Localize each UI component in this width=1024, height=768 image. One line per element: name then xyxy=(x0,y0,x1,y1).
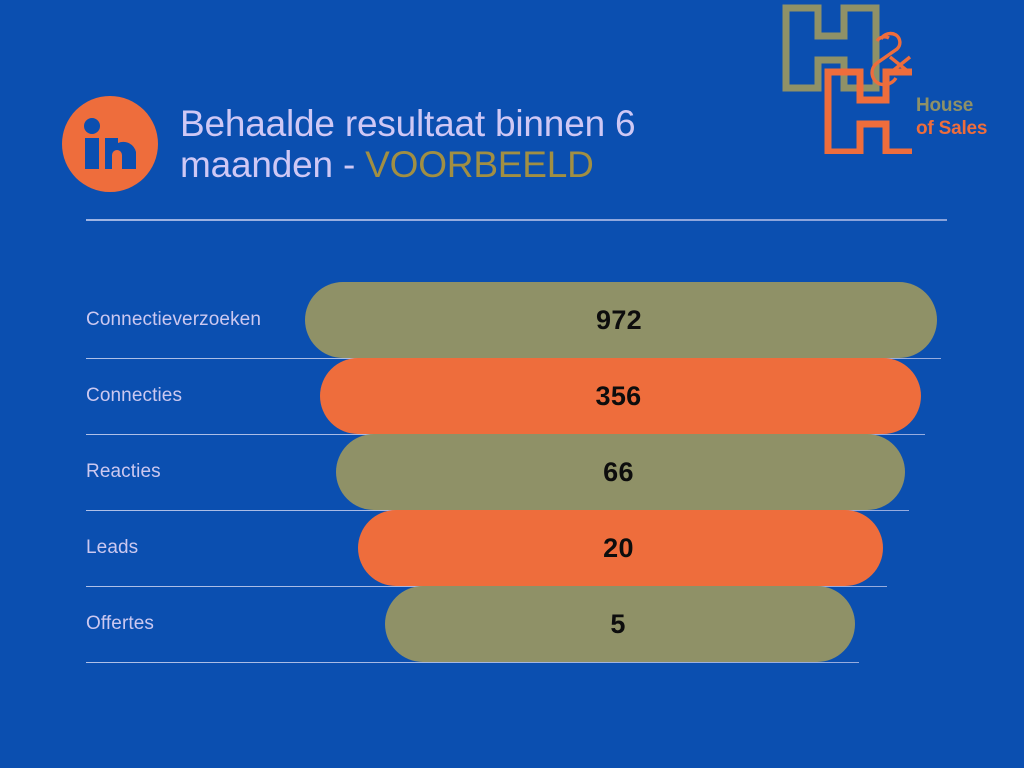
chart-row-label: Connecties xyxy=(86,385,182,407)
chart-row: Connectieverzoeken972 xyxy=(0,282,1024,358)
chart-bar: 66 xyxy=(336,434,905,510)
chart-row-label: Connectieverzoeken xyxy=(86,309,261,331)
chart-bar: 5 xyxy=(385,586,855,662)
chart-row-label: Reacties xyxy=(86,461,161,483)
chart-bar: 20 xyxy=(358,510,883,586)
slide-canvas: Behaalde resultaat binnen 6 maanden - VO… xyxy=(0,0,1024,768)
chart-bar: 356 xyxy=(320,358,921,434)
brand-wordmark-line2: of Sales xyxy=(916,117,987,140)
chart-row-label: Offertes xyxy=(86,613,154,635)
chart-bar-value: 356 xyxy=(596,381,642,412)
chart-bar-value: 20 xyxy=(603,533,634,564)
chart-bar: 972 xyxy=(305,282,937,358)
brand-wordmark-line1: House xyxy=(916,94,987,117)
chart-bar-value: 66 xyxy=(603,457,634,488)
chart-row: Connecties356 xyxy=(0,358,1024,434)
chart-row: Leads20 xyxy=(0,510,1024,586)
page-title: Behaalde resultaat binnen 6 maanden - VO… xyxy=(180,103,762,186)
chart-row-label: Leads xyxy=(86,537,138,559)
slide-header: Behaalde resultaat binnen 6 maanden - VO… xyxy=(62,88,762,200)
chart-row: Reacties66 xyxy=(0,434,1024,510)
header-divider xyxy=(86,219,947,221)
hh-ampersand-monogram-icon xyxy=(778,2,912,154)
chart-bar-value: 5 xyxy=(610,609,625,640)
page-title-highlight: VOORBEELD xyxy=(365,144,594,185)
brand-wordmark: House of Sales xyxy=(916,94,987,140)
brand-logo: House of Sales xyxy=(778,2,1016,160)
chart-bar-value: 972 xyxy=(596,305,642,336)
linkedin-in-icon xyxy=(62,96,158,192)
chart-row: Offertes5 xyxy=(0,586,1024,662)
funnel-bar-chart: Connectieverzoeken972Connecties356Reacti… xyxy=(0,270,1024,670)
